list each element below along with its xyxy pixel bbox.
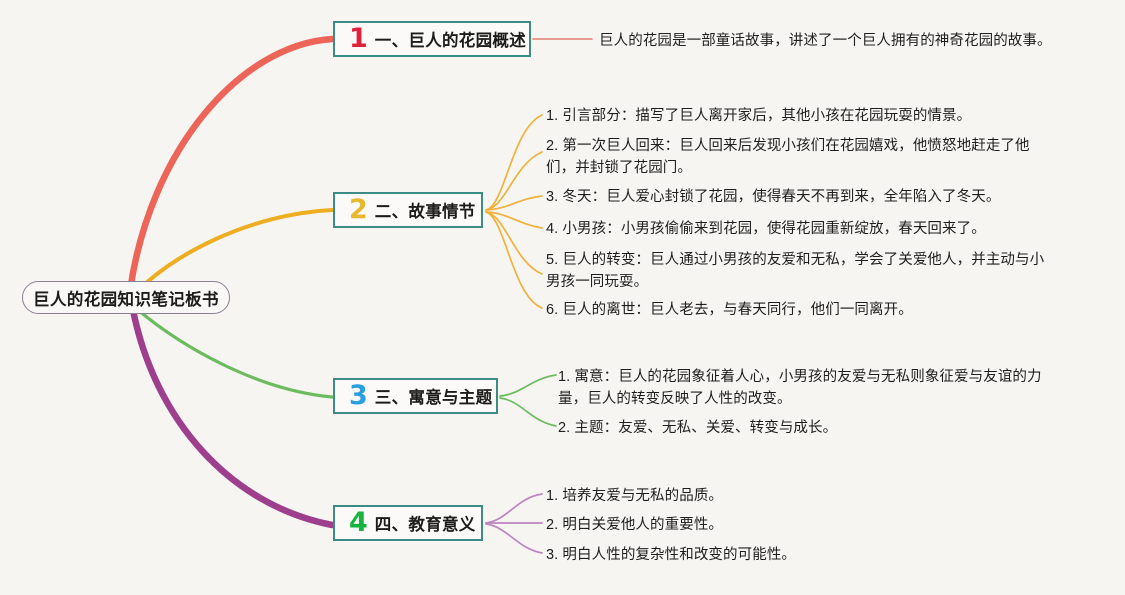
branch-number-3: 3 — [349, 382, 368, 409]
branch-number-1: 1 — [349, 25, 368, 52]
leaf-4-2[interactable]: 2. 明白关爱他人的重要性。 — [546, 514, 1016, 536]
leaf-connector-2-4 — [486, 212, 542, 228]
branch-node-4[interactable]: 4 四、教育意义 — [333, 505, 483, 541]
branch-title-3: 三、寓意与主题 — [375, 384, 493, 408]
leaf-connector-2-5 — [486, 212, 542, 274]
leaf-2-3[interactable]: 3. 冬天：巨人爱心封锁了花园，使得春天不再到来，全年陷入了冬天。 — [546, 186, 1058, 208]
leaf-3-2[interactable]: 2. 主题：友爱、无私、关爱、转变与成长。 — [558, 417, 1070, 439]
leaf-connector-4-1 — [486, 494, 542, 523]
mindmap-canvas: 巨人的花园知识笔记板书 1 一、巨人的花园概述 2 二、故事情节 3 三、寓意与… — [0, 0, 1125, 595]
leaf-connector-2-1 — [486, 115, 542, 210]
leaf-connector-2-2 — [486, 152, 542, 210]
branch-node-1[interactable]: 1 一、巨人的花园概述 — [333, 21, 531, 57]
root-node-label: 巨人的花园知识笔记板书 — [33, 286, 219, 310]
leaf-connector-4-3 — [486, 524, 542, 553]
leaf-1-1[interactable]: 巨人的花园是一部童话故事，讲述了一个巨人拥有的神奇花园的故事。 — [599, 30, 1099, 52]
leaf-2-1[interactable]: 1. 引言部分：描写了巨人离开家后，其他小孩在花园玩耍的情景。 — [546, 105, 1058, 127]
branch-number-2: 2 — [349, 196, 368, 223]
leaf-2-4[interactable]: 4. 小男孩：小男孩偷偷来到花园，使得花园重新绽放，春天回来了。 — [546, 218, 1058, 240]
leaf-connector-2-6 — [486, 212, 542, 308]
leaf-3-1[interactable]: 1. 寓意：巨人的花园象征着人心，小男孩的友爱与无私则象征爱与友谊的力量，巨人的… — [558, 366, 1070, 411]
branch-title-1: 一、巨人的花园概述 — [375, 27, 526, 51]
branch-node-2[interactable]: 2 二、故事情节 — [333, 192, 483, 228]
leaf-connector-3-1 — [500, 375, 556, 396]
main-curve-branch-3 — [138, 310, 332, 397]
leaf-2-5[interactable]: 5. 巨人的转变：巨人通过小男孩的友爱和无私，学会了关爱他人，并主动与小男孩一同… — [546, 249, 1058, 294]
branch-title-2: 二、故事情节 — [375, 198, 476, 222]
branch-title-4: 四、教育意义 — [375, 511, 476, 535]
branch-number-4: 4 — [349, 509, 368, 536]
leaf-2-2[interactable]: 2. 第一次巨人回来：巨人回来后发现小孩们在花园嬉戏，他愤怒地赶走了他们，并封锁… — [546, 135, 1058, 180]
branch-node-3[interactable]: 3 三、寓意与主题 — [333, 378, 498, 414]
root-node[interactable]: 巨人的花园知识笔记板书 — [22, 281, 230, 314]
leaf-4-3[interactable]: 3. 明白人性的复杂性和改变的可能性。 — [546, 544, 1016, 566]
main-curve-branch-1 — [130, 39, 332, 291]
leaf-2-6[interactable]: 6. 巨人的离世：巨人老去，与春天同行，他们一同离开。 — [546, 299, 1058, 321]
leaf-connector-3-2 — [500, 398, 556, 426]
leaf-4-1[interactable]: 1. 培养友爱与无私的品质。 — [546, 485, 1016, 507]
leaf-connector-2-3 — [486, 196, 542, 210]
main-curve-branch-4 — [133, 310, 332, 525]
